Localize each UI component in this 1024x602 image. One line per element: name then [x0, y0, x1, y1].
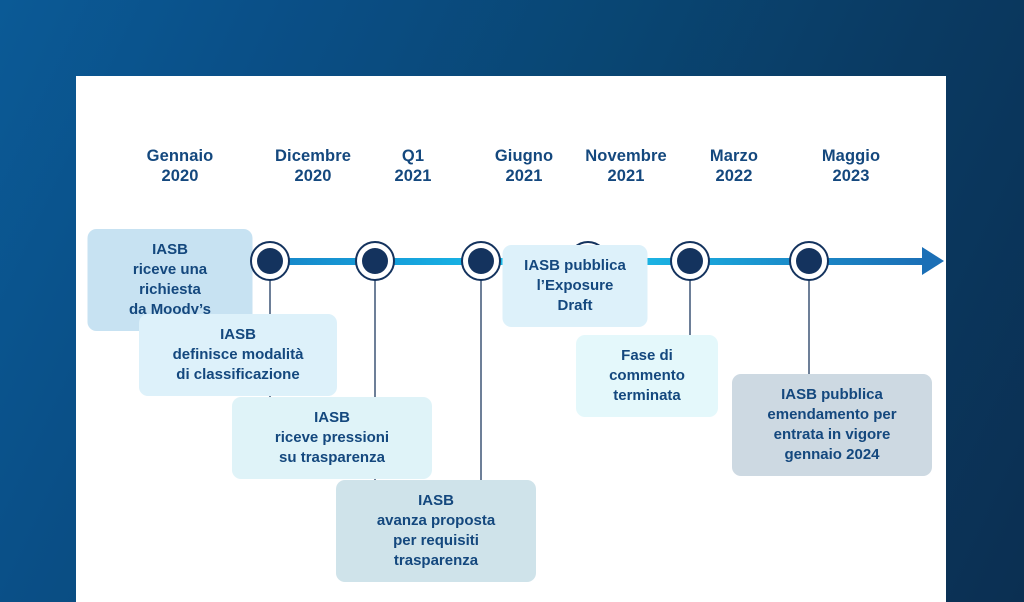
- timeline-callout-novembre-2021[interactable]: IASB pubblica l’Exposure Draft: [503, 245, 648, 327]
- callout-text: IASB riceve una richiesta da Moody’s: [104, 240, 237, 320]
- callout-text: IASB riceve pressioni su trasparenza: [275, 408, 389, 468]
- date-line-1: Dicembre: [275, 146, 351, 166]
- marker-dot-icon: [257, 248, 283, 274]
- date-line-1: Gennaio: [147, 146, 214, 166]
- timeline-date-label-gennaio-2020: Gennaio2020: [147, 146, 214, 186]
- callout-text: IASB pubblica emendamento per entrata in…: [767, 385, 896, 465]
- timeline-callout-q1-2021[interactable]: IASB riceve pressioni su trasparenza: [232, 397, 432, 479]
- date-line-1: Novembre: [585, 146, 667, 166]
- date-line-1: Marzo: [710, 146, 758, 166]
- timeline-diagram: Gennaio2020IASB riceve una richiesta da …: [0, 0, 1024, 602]
- timeline-date-label-giugno-2021: Giugno2021: [495, 146, 553, 186]
- timeline-callout-giugno-2021[interactable]: IASB avanza proposta per requisiti trasp…: [336, 480, 536, 582]
- timeline-marker-q1-2021[interactable]: [355, 241, 395, 281]
- timeline-date-label-dicembre-2020: Dicembre2020: [275, 146, 351, 186]
- timeline-date-label-marzo-2022: Marzo2022: [710, 146, 758, 186]
- date-line-2: 2020: [275, 166, 351, 186]
- timeline-marker-maggio-2023[interactable]: [789, 241, 829, 281]
- timeline-marker-giugno-2021[interactable]: [461, 241, 501, 281]
- timeline-callout-maggio-2023[interactable]: IASB pubblica emendamento per entrata in…: [732, 374, 932, 476]
- callout-text: IASB pubblica l’Exposure Draft: [519, 256, 632, 316]
- timeline-arrow-icon: [922, 247, 944, 275]
- callout-text: Fase di commento terminata: [609, 346, 685, 406]
- marker-dot-icon: [362, 248, 388, 274]
- marker-dot-icon: [796, 248, 822, 274]
- marker-dot-icon: [468, 248, 494, 274]
- date-line-1: Q1: [394, 146, 431, 166]
- date-line-2: 2021: [394, 166, 431, 186]
- content-card: Gennaio2020IASB riceve una richiesta da …: [76, 76, 946, 602]
- date-line-2: 2023: [822, 166, 880, 186]
- date-line-2: 2020: [147, 166, 214, 186]
- date-line-2: 2022: [710, 166, 758, 186]
- date-line-2: 2021: [495, 166, 553, 186]
- timeline-date-label-maggio-2023: Maggio2023: [822, 146, 880, 186]
- timeline-callout-dicembre-2020[interactable]: IASB definisce modalità di classificazio…: [139, 314, 337, 396]
- date-line-1: Maggio: [822, 146, 880, 166]
- date-line-2: 2021: [585, 166, 667, 186]
- marker-dot-icon: [677, 248, 703, 274]
- timeline-callout-marzo-2022[interactable]: Fase di commento terminata: [576, 335, 718, 417]
- timeline-date-label-novembre-2021: Novembre2021: [585, 146, 667, 186]
- callout-text: IASB avanza proposta per requisiti trasp…: [352, 491, 520, 571]
- timeline-date-label-q1-2021: Q12021: [394, 146, 431, 186]
- timeline-marker-marzo-2022[interactable]: [670, 241, 710, 281]
- callout-text: IASB definisce modalità di classificazio…: [173, 325, 304, 385]
- date-line-1: Giugno: [495, 146, 553, 166]
- timeline-marker-dicembre-2020[interactable]: [250, 241, 290, 281]
